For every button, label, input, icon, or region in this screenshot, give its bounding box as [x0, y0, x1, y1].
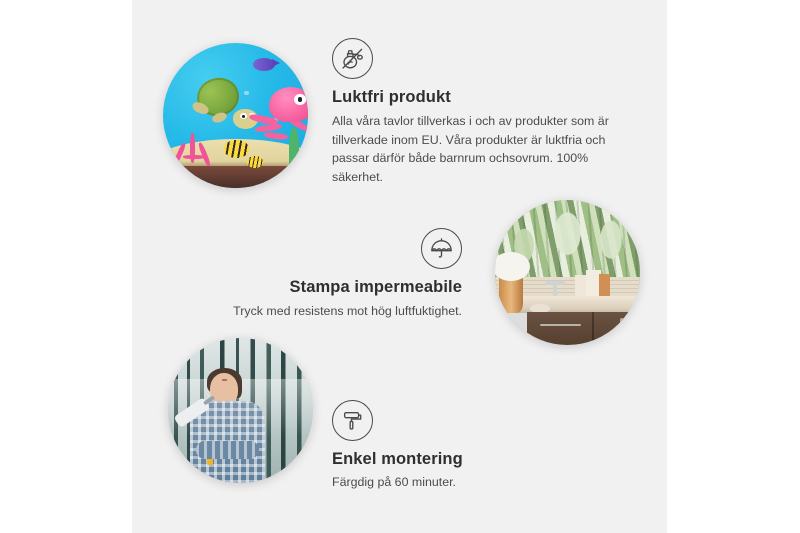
paint-roller-icon — [332, 400, 373, 441]
drawer-handle — [540, 324, 581, 326]
octopus-tentacle — [255, 123, 282, 133]
forest-scene — [168, 338, 313, 483]
product-photo-ocean[interactable] — [163, 43, 308, 188]
screenshot-root: Luktfri produkt Alla våra tavlor tillver… — [0, 0, 800, 533]
product-photo-bathroom[interactable] — [495, 200, 640, 345]
purple-fish-icon — [253, 58, 275, 71]
sea-turtle-icon — [192, 78, 256, 130]
feature-title: Enkel montering — [332, 450, 592, 469]
feature-description: Alla våra tavlor tillverkas i och av pro… — [332, 112, 632, 186]
coral-icon — [172, 133, 216, 177]
feature-easy-mounting: Enkel montering Färgdig på 60 minuter. — [332, 400, 592, 492]
feature-waterproof: Stampa impermeabile Tryck med resistens … — [222, 228, 462, 321]
ocean-scene — [163, 43, 308, 188]
crossed-arms — [196, 441, 259, 459]
octopus-eye — [294, 94, 305, 105]
no-fragrance-icon — [332, 38, 373, 79]
octopus-tentacle — [264, 132, 289, 141]
feature-description: Tryck med resistens mot hög luftfuktighe… — [222, 302, 462, 321]
octopus-icon — [253, 87, 308, 145]
product-photo-forest[interactable] — [168, 338, 313, 483]
painter-woman — [188, 373, 266, 483]
seaweed-icon — [289, 127, 299, 173]
feature-title: Luktfri produkt — [332, 88, 632, 107]
feature-odor-free: Luktfri produkt Alla våra tavlor tillver… — [332, 38, 632, 186]
octopus-head — [269, 87, 308, 123]
vanity-cabinet — [527, 312, 640, 345]
feature-title: Stampa impermeabile — [222, 278, 462, 297]
turtle-eye — [240, 113, 247, 119]
bathroom-scene — [495, 200, 640, 345]
yellow-fish-icon — [247, 156, 263, 168]
cabinet-handle — [620, 318, 625, 339]
feature-description: Färgdig på 60 minuter. — [332, 473, 592, 492]
yellow-fish-icon — [224, 140, 249, 157]
vase-icon — [499, 275, 522, 313]
umbrella-icon — [421, 228, 462, 269]
smile — [222, 379, 227, 380]
